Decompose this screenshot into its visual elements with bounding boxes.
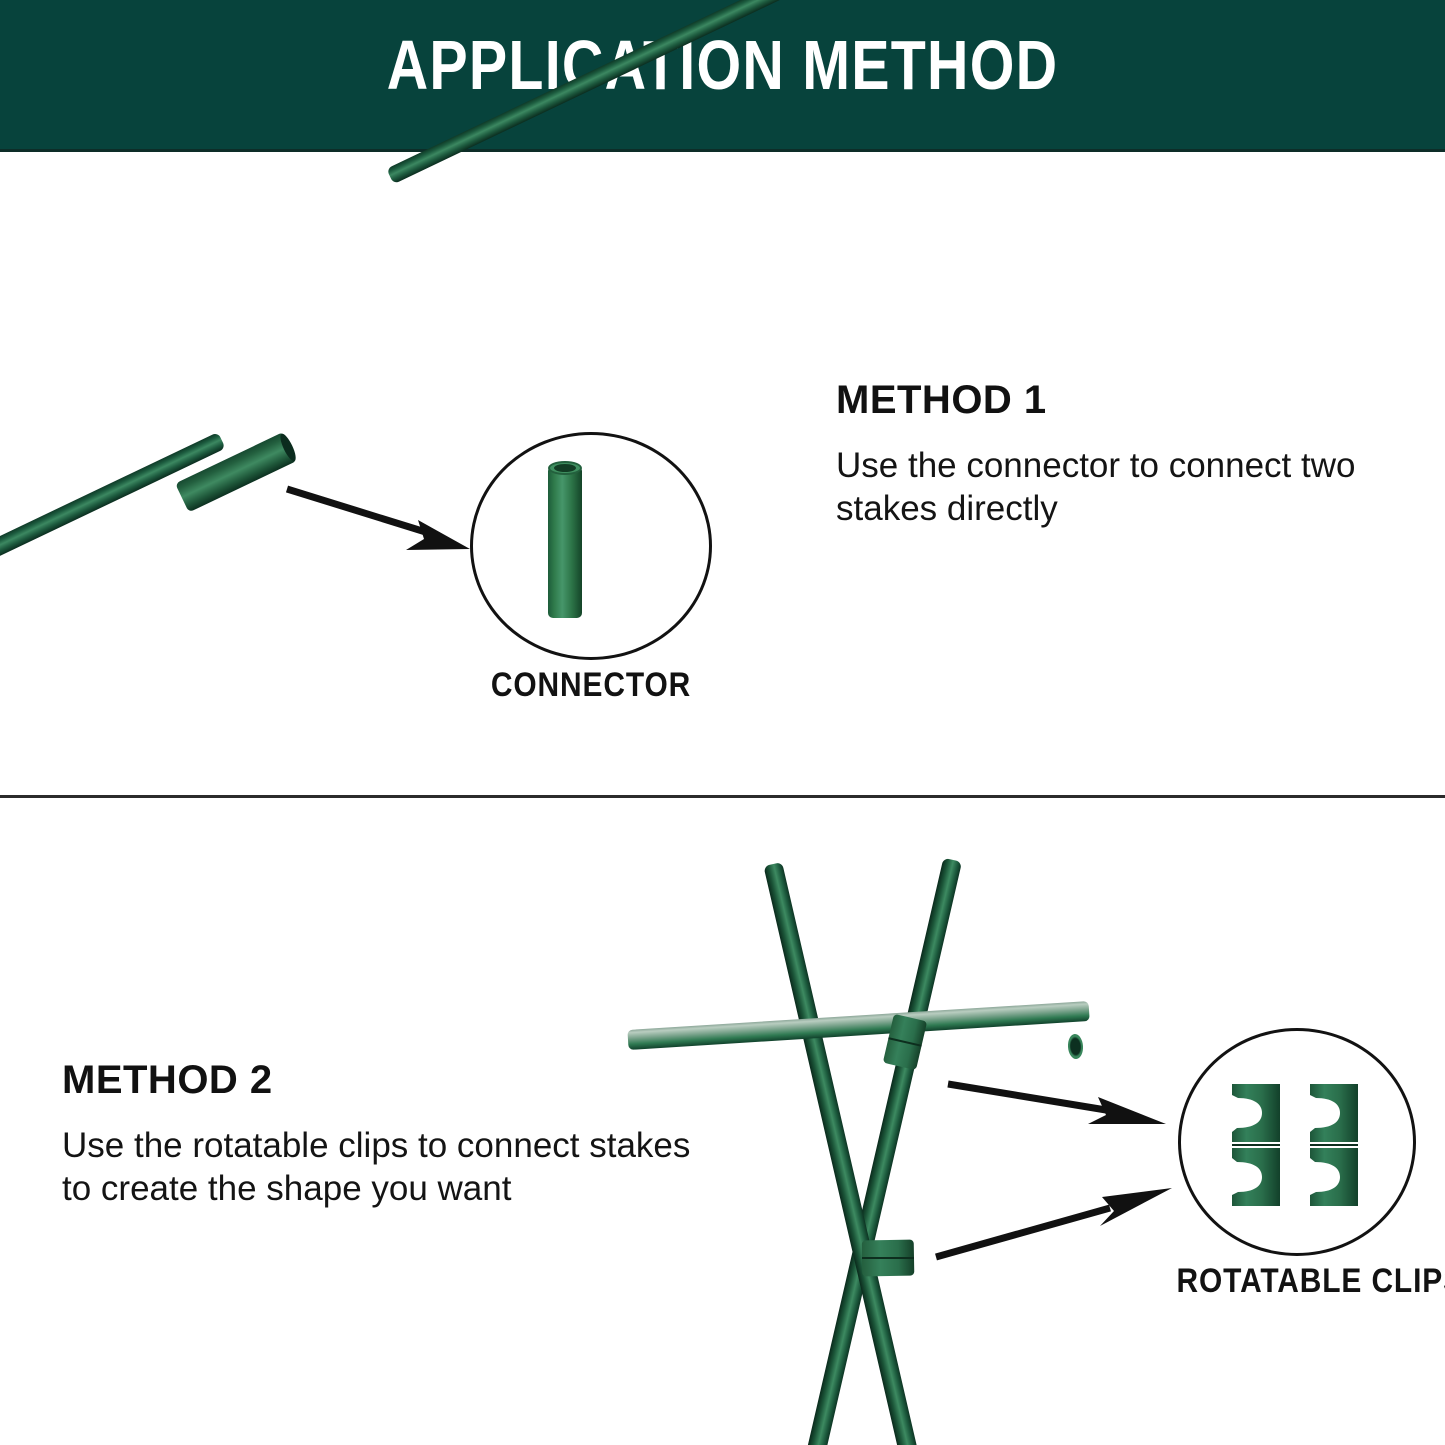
- rotatable-clip-icon-right: [1306, 1082, 1362, 1208]
- stake-horizontal: [627, 1001, 1089, 1050]
- page-title: APPLICATION METHOD: [130, 26, 1315, 104]
- section-divider: [0, 795, 1445, 798]
- clips-callout-label: ROTATABLE CLIPS: [1177, 1262, 1419, 1300]
- clips-callout-circle: [1178, 1028, 1416, 1256]
- rotatable-clip-icon-left: [1228, 1082, 1284, 1208]
- connector-tube-bore-icon: [554, 464, 576, 472]
- arrow-clip-upper-callout: [948, 1084, 1166, 1124]
- method-2-heading: METHOD 2: [62, 1058, 722, 1102]
- clip-shape-svg: [1228, 1082, 1284, 1208]
- application-method-infographic: APPLICATION METHOD CONNECTOR METHOD 1 Us…: [0, 0, 1445, 1445]
- method-1-heading: METHOD 1: [836, 378, 1436, 422]
- connector-callout-label: CONNECTOR: [485, 666, 698, 704]
- arrow-clip-lower-callout: [936, 1188, 1172, 1257]
- method-2-description: Use the rotatable clips to connect stake…: [62, 1124, 722, 1210]
- clip-lower-seam: [862, 1257, 914, 1259]
- method-1-description: Use the connector to connect two stakes …: [836, 444, 1436, 530]
- method-2-text-block: METHOD 2 Use the rotatable clips to conn…: [62, 1058, 722, 1210]
- clip-shape-svg: [1306, 1082, 1362, 1208]
- connector-callout-circle: [470, 432, 712, 660]
- method-1-text-block: METHOD 1 Use the connector to connect tw…: [836, 378, 1436, 530]
- arrow-connector-callout: [287, 489, 470, 550]
- connector-tube-icon: [548, 466, 582, 618]
- stake-horizontal-open-end: [1067, 1034, 1084, 1060]
